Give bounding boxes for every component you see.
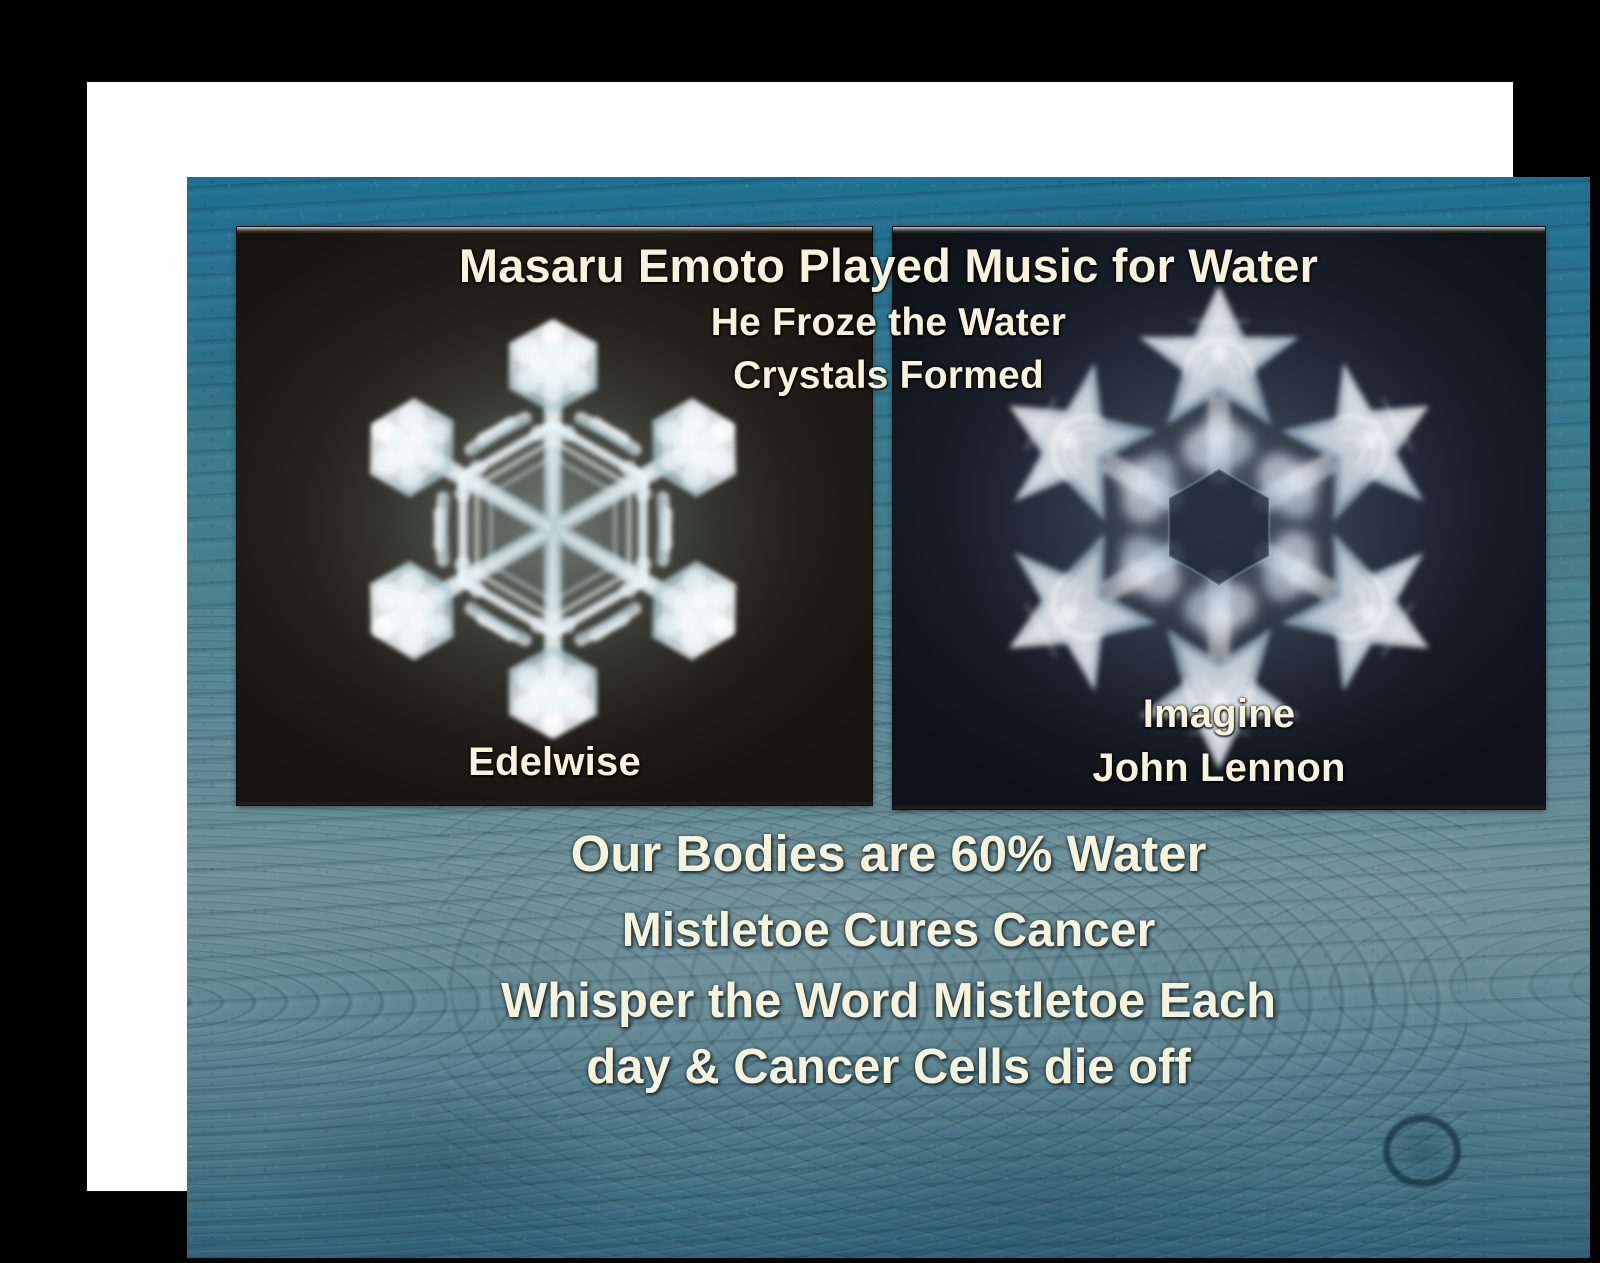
snowflake-crystal-right-icon bbox=[897, 245, 1542, 805]
snowflake-crystal-left-icon bbox=[243, 267, 863, 805]
crystal-photo-right[interactable] bbox=[893, 227, 1545, 809]
crystal-photo-left[interactable] bbox=[237, 227, 872, 805]
slide-canvas: Masaru Emoto Played Music for Water He F… bbox=[0, 0, 1600, 1263]
message-line-4: day & Cancer Cells die off bbox=[187, 1034, 1590, 1100]
message-line-1: Our Bodies are 60% Water bbox=[187, 815, 1590, 893]
wood-knot-ring bbox=[1383, 1115, 1461, 1187]
photo-top-highlight-strip bbox=[893, 227, 1545, 234]
message-line-2: Mistletoe Cures Cancer bbox=[187, 893, 1590, 969]
message-block: Our Bodies are 60% Water Mistletoe Cures… bbox=[187, 815, 1590, 1100]
photo-top-highlight-strip bbox=[237, 227, 872, 234]
message-line-3: Whisper the Word Mistletoe Each bbox=[187, 969, 1590, 1034]
photo-bottom-shade-strip bbox=[237, 800, 872, 805]
photo-frame-mat: Masaru Emoto Played Music for Water He F… bbox=[87, 82, 1513, 1191]
wood-board-background: Masaru Emoto Played Music for Water He F… bbox=[187, 177, 1590, 1258]
photo-bottom-shade-strip bbox=[893, 804, 1545, 809]
